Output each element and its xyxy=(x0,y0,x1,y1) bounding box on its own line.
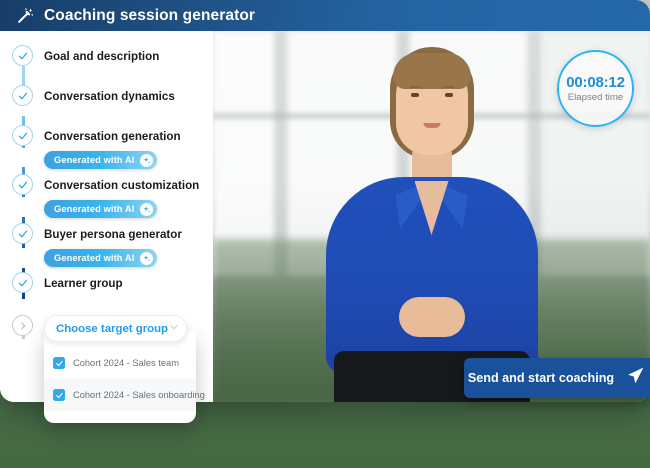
generated-with-ai-badge: Generated with AI xyxy=(44,200,157,218)
chevron-down-icon[interactable] xyxy=(168,320,180,338)
checkbox-checked[interactable] xyxy=(53,389,65,401)
option-label: Cohort 2024 - Sales onboarding xyxy=(73,390,205,400)
check-icon xyxy=(12,223,33,244)
video-panel[interactable]: 00:08:12 Elapsed time xyxy=(213,31,650,402)
step-item-buyer-persona-generator[interactable]: Buyer persona generator Generated with A… xyxy=(0,223,213,267)
target-group-dropdown: Cohort 2024 - Sales team Cohort 2024 - S… xyxy=(44,315,187,342)
generated-with-ai-badge: Generated with AI xyxy=(44,151,157,169)
target-group-menu: Cohort 2024 - Sales team Cohort 2024 - S… xyxy=(44,331,196,423)
page-title: Coaching session generator xyxy=(44,8,255,24)
generated-with-ai-badge: Generated with AI xyxy=(44,249,157,267)
step-item-conversation-customization[interactable]: Conversation customization Generated wit… xyxy=(0,174,213,218)
step-label: Goal and description xyxy=(44,50,159,63)
dropdown-label: Choose target group xyxy=(56,323,168,335)
step-label: Buyer persona generator xyxy=(44,228,182,241)
check-icon xyxy=(12,272,33,293)
badge-label: Generated with AI xyxy=(54,253,134,263)
timer-label: Elapsed time xyxy=(568,92,623,103)
step-label: Learner group xyxy=(44,277,123,290)
check-icon xyxy=(12,45,33,66)
sparkle-icon xyxy=(140,203,153,216)
step-item-goal-and-description[interactable]: Goal and description xyxy=(0,45,213,66)
window-header: Coaching session generator xyxy=(0,0,650,31)
send-plane-icon xyxy=(625,365,646,391)
checkbox-checked[interactable] xyxy=(53,357,65,369)
list-item[interactable]: Cohort 2024 - Sales onboarding xyxy=(44,379,196,411)
step-label: Conversation generation xyxy=(44,130,181,143)
presenter-avatar xyxy=(302,31,562,402)
sparkle-icon xyxy=(140,252,153,265)
list-item[interactable]: Cohort 2024 - Sales team xyxy=(44,347,196,379)
check-icon xyxy=(12,174,33,195)
coaching-session-card: Coaching session generator Goal and desc… xyxy=(0,0,650,402)
step-item-conversation-dynamics[interactable]: Conversation dynamics xyxy=(0,85,213,106)
step-label: Conversation customization xyxy=(44,179,199,192)
target-group-trigger[interactable]: Choose target group xyxy=(44,315,187,342)
option-label: Cohort 2024 - Sales team xyxy=(73,358,179,368)
check-icon xyxy=(12,85,33,106)
chevron-right-icon[interactable] xyxy=(12,315,33,336)
step-item-conversation-generation[interactable]: Conversation generation Generated with A… xyxy=(0,125,213,169)
screenshot-root: Coaching session generator Goal and desc… xyxy=(0,0,650,468)
step-label: Conversation dynamics xyxy=(44,90,175,103)
check-icon xyxy=(12,125,33,146)
magic-wand-icon xyxy=(16,6,35,25)
sparkle-icon xyxy=(140,154,153,167)
cta-label: Send and start coaching xyxy=(468,371,614,385)
target-group-row: Cohort 2024 - Sales team Cohort 2024 - S… xyxy=(12,315,187,342)
send-and-start-coaching-button[interactable]: Send and start coaching xyxy=(464,358,650,398)
elapsed-time-badge: 00:08:12 Elapsed time xyxy=(557,50,634,127)
timer-value: 00:08:12 xyxy=(566,74,624,91)
step-item-learner-group[interactable]: Learner group xyxy=(0,272,213,293)
badge-label: Generated with AI xyxy=(54,155,134,165)
badge-label: Generated with AI xyxy=(54,204,134,214)
